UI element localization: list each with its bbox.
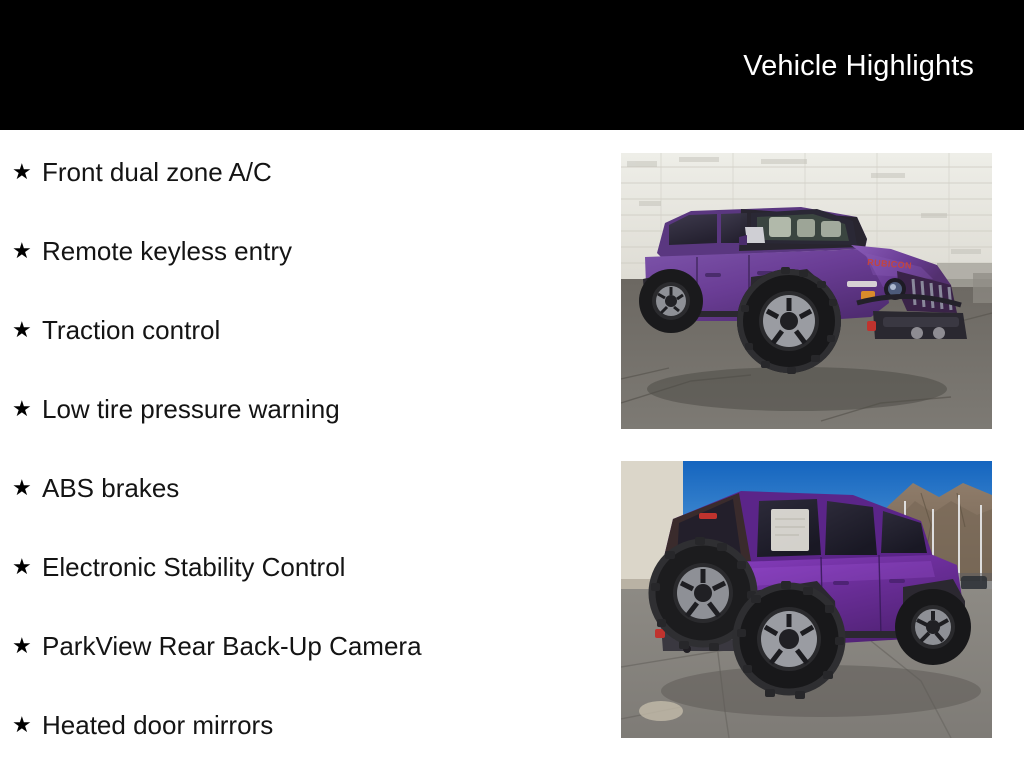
feature-label: Remote keyless entry	[42, 234, 292, 268]
star-bullet-icon: ★	[12, 392, 42, 426]
feature-list-item: ★Electronic Stability Control	[12, 550, 345, 584]
star-bullet-icon: ★	[12, 550, 42, 584]
vehicle-photo-front-quarter-graphic: RUBICON	[621, 153, 992, 429]
feature-list-item: ★Heated door mirrors	[12, 708, 273, 742]
star-bullet-icon: ★	[12, 708, 42, 742]
feature-label: Low tire pressure warning	[42, 392, 340, 426]
feature-list-item: ★ABS brakes	[12, 471, 179, 505]
vehicle-photo-rear-quarter-graphic	[621, 461, 992, 738]
header-bar: Vehicle Highlights	[0, 0, 1024, 130]
feature-label: Electronic Stability Control	[42, 550, 345, 584]
feature-label: Front dual zone A/C	[42, 155, 272, 189]
feature-list-item: ★Low tire pressure warning	[12, 392, 340, 426]
feature-list-item: ★Front dual zone A/C	[12, 155, 272, 189]
feature-label: Traction control	[42, 313, 220, 347]
vehicle-highlights-page: Vehicle Highlights ★Front dual zone A/C★…	[0, 0, 1024, 768]
feature-label: Heated door mirrors	[42, 708, 273, 742]
star-bullet-icon: ★	[12, 234, 42, 268]
star-bullet-icon: ★	[12, 155, 42, 189]
page-title: Vehicle Highlights	[743, 49, 974, 83]
vehicle-features-list: ★Front dual zone A/C★Remote keyless entr…	[0, 130, 600, 768]
star-bullet-icon: ★	[12, 471, 42, 505]
feature-label: ABS brakes	[42, 471, 179, 505]
vehicle-photo-rear-quarter[interactable]	[621, 461, 992, 738]
star-bullet-icon: ★	[12, 313, 42, 347]
feature-list-item: ★Remote keyless entry	[12, 234, 292, 268]
feature-list-item: ★ParkView Rear Back-Up Camera	[12, 629, 422, 663]
star-bullet-icon: ★	[12, 629, 42, 663]
vehicle-photo-front-quarter[interactable]: RUBICON	[621, 153, 992, 429]
feature-label: ParkView Rear Back-Up Camera	[42, 629, 422, 663]
feature-list-item: ★Traction control	[12, 313, 220, 347]
